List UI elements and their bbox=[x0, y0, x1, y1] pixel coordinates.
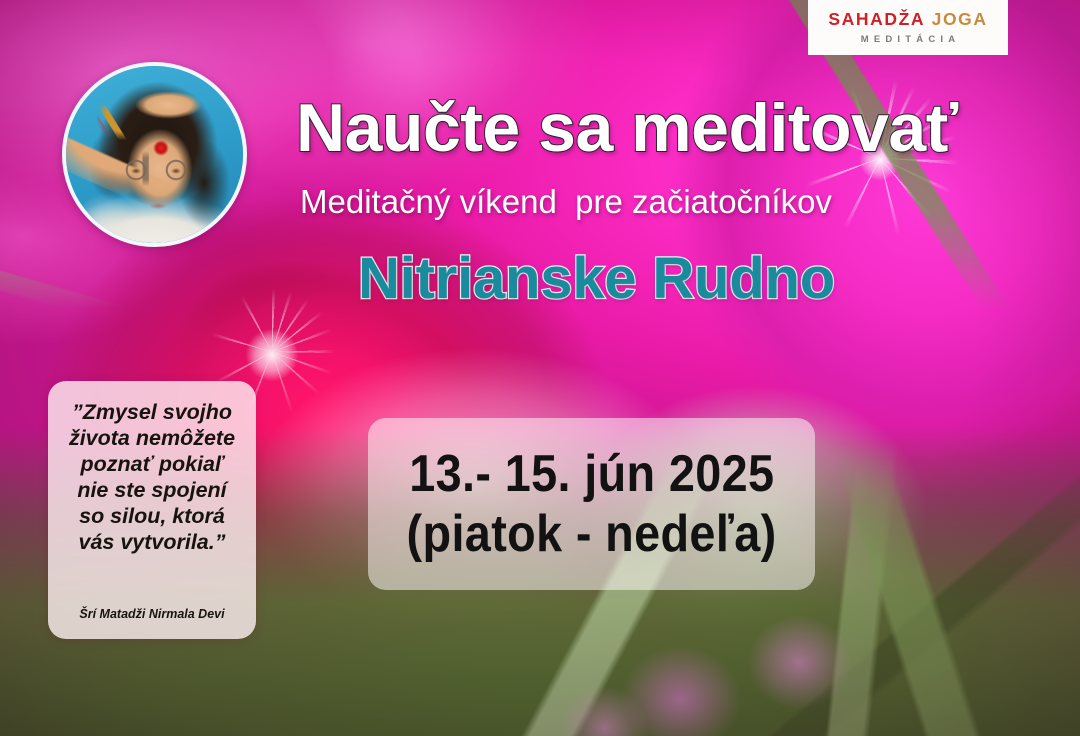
quote-card: ”Zmysel svojho života nemôžete poznať po… bbox=[48, 381, 256, 639]
page-subtitle: Meditačný víkend pre začiatočníkov bbox=[300, 184, 1020, 220]
portrait-bindi bbox=[66, 66, 243, 243]
brand-logo-name-sahadza: SAHADŽA bbox=[828, 9, 925, 29]
brand-logo[interactable]: SAHADŽA JOGA MEDITÁCIA bbox=[808, 0, 1008, 55]
quote-author: Šrí Matadži Nirmala Devi bbox=[60, 607, 244, 629]
event-date-days: (piatok - nedeľa) bbox=[406, 506, 776, 562]
brand-logo-name: SAHADŽA JOGA bbox=[828, 11, 987, 29]
poster-canvas: SAHADŽA JOGA MEDITÁCIA Naučte sa meditov… bbox=[0, 0, 1080, 736]
event-location: Nitrianske Rudno bbox=[358, 250, 1058, 308]
page-title: Naučte sa meditovať bbox=[296, 94, 1016, 162]
event-date-card: 13.- 15. jún 2025 (piatok - nedeľa) bbox=[368, 418, 815, 590]
shri-mataji-portrait bbox=[62, 62, 247, 247]
quote-text: ”Zmysel svojho života nemôžete poznať po… bbox=[60, 399, 244, 555]
brand-logo-tagline: MEDITÁCIA bbox=[856, 35, 961, 45]
event-date-range: 13.- 15. jún 2025 bbox=[409, 446, 774, 502]
brand-logo-name-joga: JOGA bbox=[932, 9, 988, 29]
